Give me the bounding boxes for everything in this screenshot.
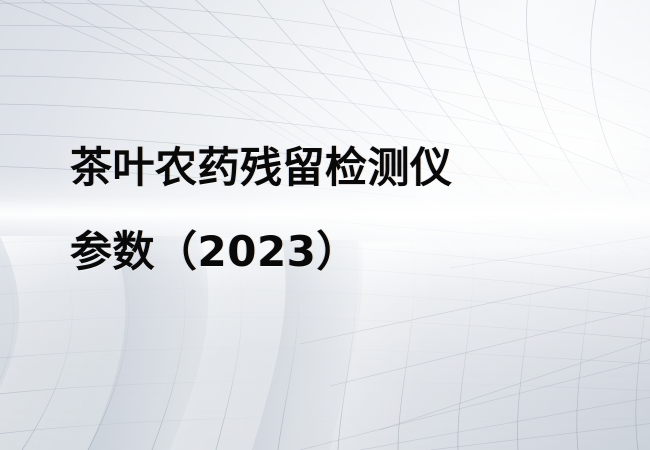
title-line-1: 茶叶农药残留检测仪 xyxy=(70,126,453,210)
title-line-2: 参数（2023） xyxy=(70,210,453,294)
title-banner: 茶叶农药残留检测仪 参数（2023） xyxy=(0,0,650,450)
page-title: 茶叶农药残留检测仪 参数（2023） xyxy=(70,126,453,294)
